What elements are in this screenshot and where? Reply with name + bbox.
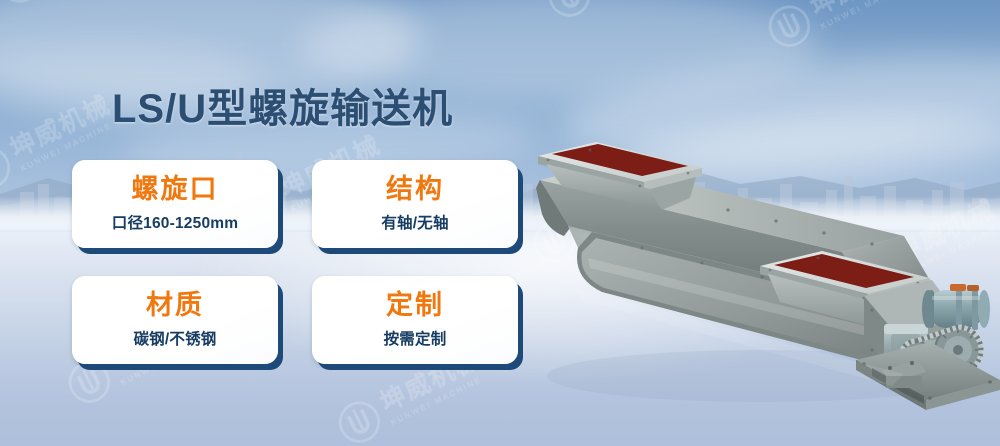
- feature-card-subtitle: 碳钢/不锈钢: [133, 327, 216, 349]
- feature-card-screw-opening[interactable]: 螺旋口 口径160-1250mm: [72, 160, 278, 248]
- watermark-cn: 坤威机械: [806, 0, 914, 20]
- feature-card-subtitle: 口径160-1250mm: [112, 211, 238, 233]
- kunwei-logo-icon: [760, 0, 819, 56]
- kunwei-logo-icon: [540, 0, 599, 26]
- feature-card-material[interactable]: 材质 碳钢/不锈钢: [72, 276, 278, 364]
- watermark-en: KUNWEI MACHINE: [819, 0, 920, 30]
- promo-banner: 坤威机械 KUNWEI MACHINE 坤威机械 KUNWEI MACHINE: [0, 0, 1000, 446]
- feature-card-customization[interactable]: 定制 按需定制: [312, 276, 518, 364]
- feature-card-title: 定制: [386, 291, 444, 319]
- feature-card-grid: 螺旋口 口径160-1250mm 结构 有轴/无轴 材质 碳钢/不锈钢 定制 按…: [72, 160, 532, 364]
- feature-card-subtitle: 按需定制: [384, 327, 447, 349]
- feature-card-title: 结构: [386, 175, 444, 203]
- page-title: LS/U型螺旋输送机: [112, 76, 453, 134]
- feature-card-title: 螺旋口: [132, 175, 219, 203]
- kunwei-logo-icon: [0, 0, 49, 12]
- watermark: 坤威机械 KUNWEI MACHINE: [760, 0, 921, 56]
- feature-card-structure[interactable]: 结构 有轴/无轴: [312, 160, 518, 248]
- card-row: 材质 碳钢/不锈钢 定制 按需定制: [72, 276, 532, 364]
- motor: [922, 284, 990, 330]
- feature-card-subtitle: 有轴/无轴: [381, 211, 448, 233]
- screw-conveyor-illustration: [512, 118, 1000, 418]
- product-image: [512, 118, 1000, 418]
- watermark: 坤威机械 KUNWEI MACHINE: [540, 0, 701, 26]
- watermark: 坤威机械 KUNWEI MACHINE: [0, 0, 151, 12]
- card-row: 螺旋口 口径160-1250mm 结构 有轴/无轴: [72, 160, 532, 248]
- feature-card-title: 材质: [146, 291, 204, 319]
